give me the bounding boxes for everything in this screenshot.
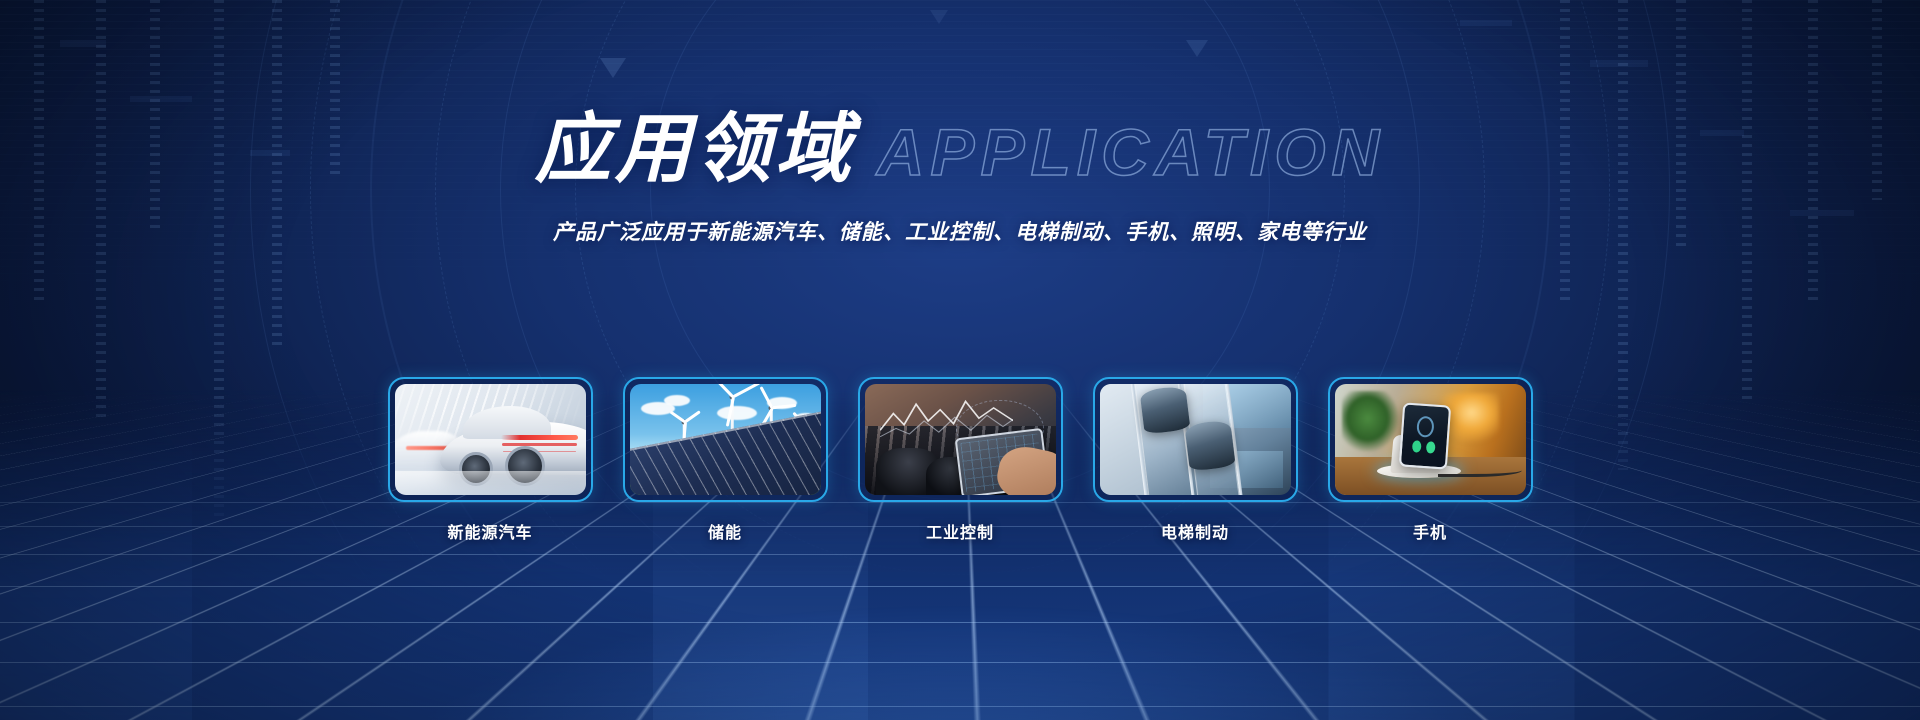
card-image-frame bbox=[388, 377, 593, 502]
elevator-shafts-photo bbox=[1100, 384, 1291, 495]
industrial-control-tablet-photo bbox=[865, 384, 1056, 495]
title-row: 应用领域 APPLICATION bbox=[535, 112, 1385, 188]
application-card-energy-storage[interactable]: 储能 bbox=[623, 377, 828, 543]
triangle-decoration-1 bbox=[600, 58, 626, 78]
card-label: 工业控制 bbox=[858, 519, 1063, 543]
card-image-frame bbox=[623, 377, 828, 502]
card-label: 新能源汽车 bbox=[388, 519, 593, 543]
application-card-list: 新能源汽车 bbox=[0, 377, 1920, 543]
triangle-decoration-3 bbox=[930, 10, 948, 24]
solar-panels-wind-turbines-photo bbox=[630, 384, 821, 495]
banner-heading-group: 应用领域 APPLICATION 产品广泛应用于新能源汽车、储能、工业控制、电梯… bbox=[0, 112, 1920, 246]
application-card-ev[interactable]: 新能源汽车 bbox=[388, 377, 593, 543]
application-banner: 应用领域 APPLICATION 产品广泛应用于新能源汽车、储能、工业控制、电梯… bbox=[0, 0, 1920, 720]
smartphone-wireless-charger-photo bbox=[1335, 384, 1526, 495]
card-label: 手机 bbox=[1328, 519, 1533, 543]
card-label: 电梯制动 bbox=[1093, 519, 1298, 543]
page-title-english: APPLICATION bbox=[877, 119, 1385, 185]
ev-sports-car-photo bbox=[395, 384, 586, 495]
card-label: 储能 bbox=[623, 519, 828, 543]
triangle-decoration-2 bbox=[1186, 40, 1208, 57]
application-card-elevator-braking[interactable]: 电梯制动 bbox=[1093, 377, 1298, 543]
application-card-industrial-control[interactable]: 工业控制 bbox=[858, 377, 1063, 543]
card-image-frame bbox=[858, 377, 1063, 502]
card-image-frame bbox=[1093, 377, 1298, 502]
application-card-mobile-phone[interactable]: 手机 bbox=[1328, 377, 1533, 543]
page-subtitle: 产品广泛应用于新能源汽车、储能、工业控制、电梯制动、手机、照明、家电等行业 bbox=[0, 216, 1920, 246]
page-title: 应用领域 bbox=[535, 112, 855, 188]
card-image-frame bbox=[1328, 377, 1533, 502]
